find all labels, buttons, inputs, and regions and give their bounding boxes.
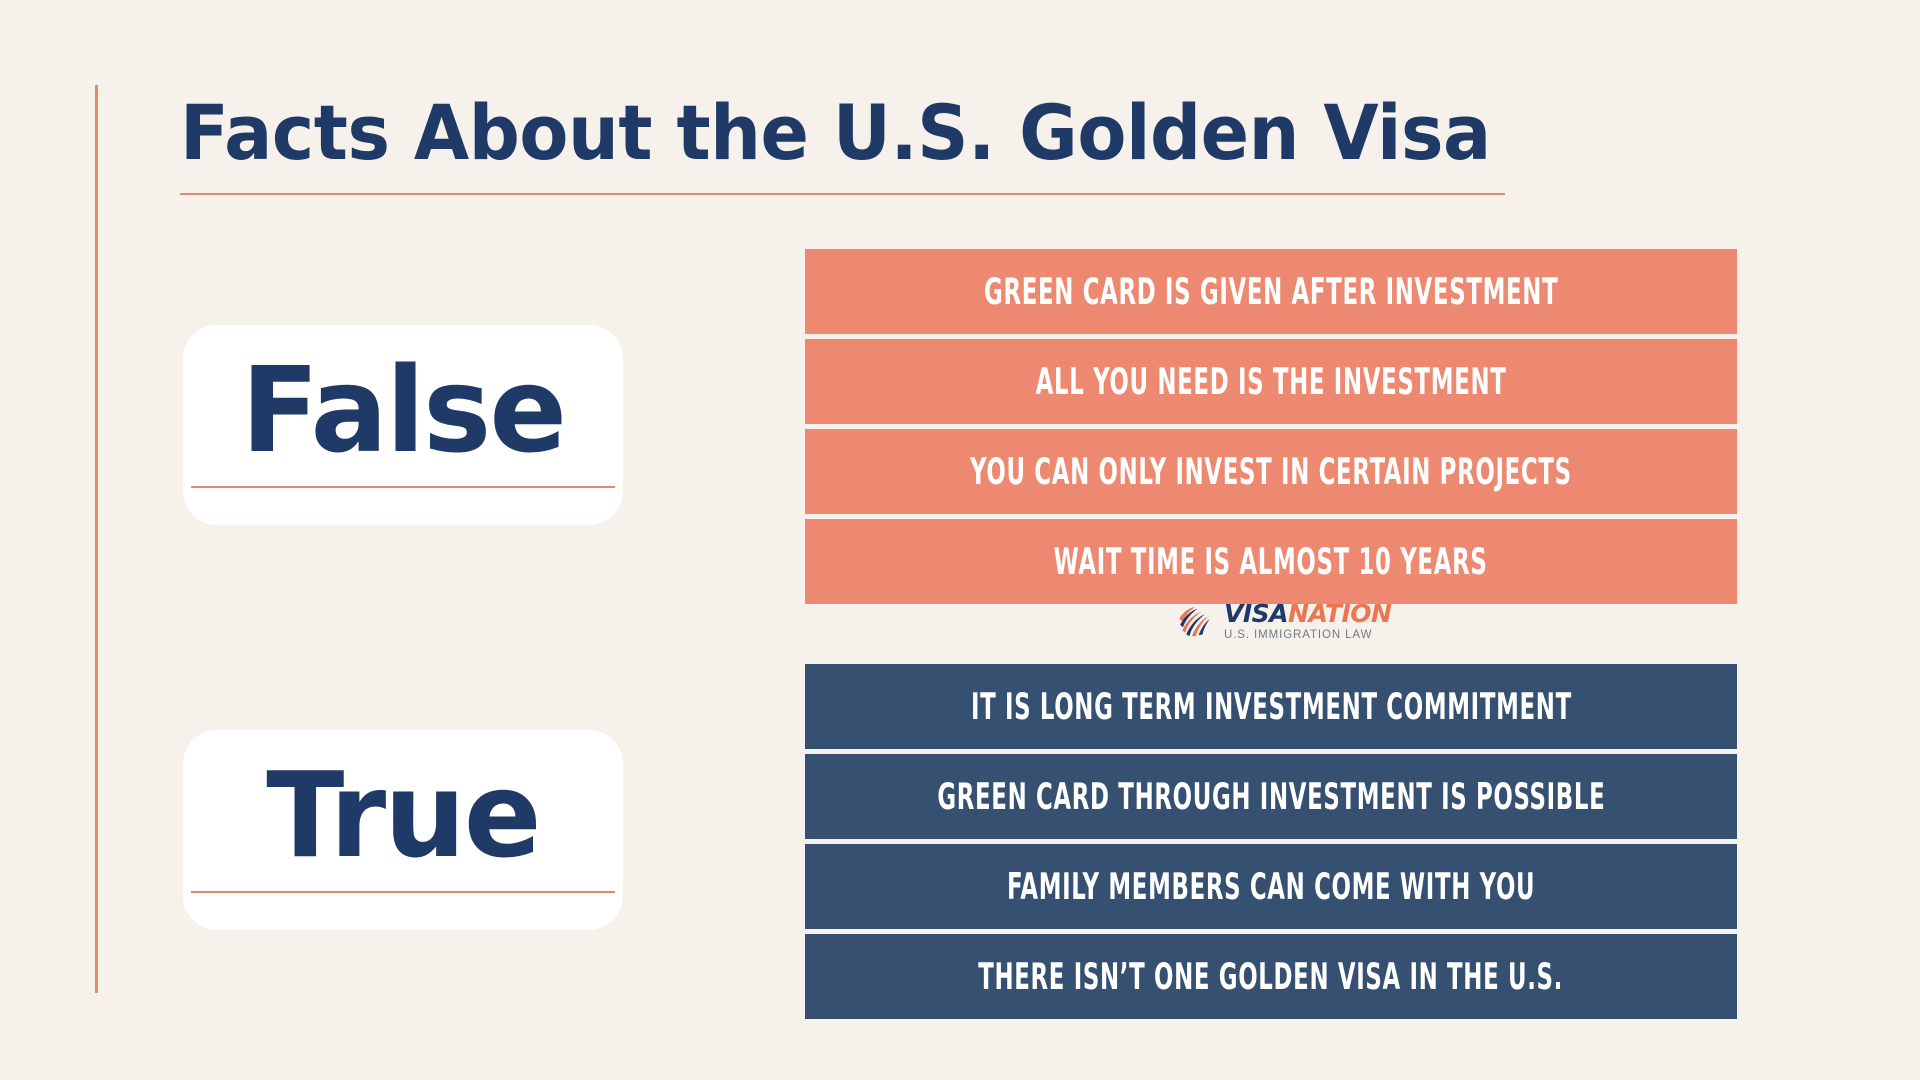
statement-bar: FAMILY MEMBERS CAN COME WITH YOU [805, 844, 1737, 929]
globe-icon [1173, 600, 1215, 642]
statement-text: WAIT TIME IS ALMOST 10 YEARS [1054, 540, 1488, 582]
page-title: Facts About the U.S. Golden Visa [180, 95, 1496, 171]
statement-bar: WAIT TIME IS ALMOST 10 YEARS [805, 519, 1737, 604]
verdict-card-false: False [183, 325, 623, 525]
statement-text: YOU CAN ONLY INVEST IN CERTAIN PROJECTS [970, 450, 1572, 492]
verdict-label-true: True [266, 756, 539, 874]
statement-bar: IT IS LONG TERM INVESTMENT COMMITMENT [805, 664, 1737, 749]
logo-word-visa: VISA [1224, 599, 1288, 628]
statement-text: GREEN CARD IS GIVEN AFTER INVESTMENT [984, 270, 1558, 312]
statement-text: GREEN CARD THROUGH INVESTMENT IS POSSIBL… [937, 775, 1605, 817]
brand-logo: VISANATION U.S. IMMIGRATION LAW [1173, 600, 1391, 642]
verdict-underline-false [191, 486, 615, 488]
statement-text: FAMILY MEMBERS CAN COME WITH YOU [1007, 865, 1535, 907]
logo-word-nation: NATION [1288, 599, 1391, 628]
statement-bar: THERE ISN’T ONE GOLDEN VISA IN THE U.S. [805, 934, 1737, 1019]
logo-text: VISANATION U.S. IMMIGRATION LAW [1224, 601, 1391, 642]
statement-bar: YOU CAN ONLY INVEST IN CERTAIN PROJECTS [805, 429, 1737, 514]
statement-text: IT IS LONG TERM INVESTMENT COMMITMENT [971, 685, 1572, 727]
statement-stack-true: IT IS LONG TERM INVESTMENT COMMITMENT GR… [805, 664, 1737, 1019]
statement-text: THERE ISN’T ONE GOLDEN VISA IN THE U.S. [979, 955, 1564, 997]
verdict-card-true-inner: True [183, 730, 623, 930]
title-block: Facts About the U.S. Golden Visa [180, 95, 1580, 195]
statement-bar: GREEN CARD IS GIVEN AFTER INVESTMENT [805, 249, 1737, 334]
verdict-underline-true [191, 891, 615, 893]
statement-stack-false: GREEN CARD IS GIVEN AFTER INVESTMENT ALL… [805, 249, 1737, 604]
statement-bar: ALL YOU NEED IS THE INVESTMENT [805, 339, 1737, 424]
left-accent-rule [95, 85, 98, 993]
verdict-label-false: False [241, 351, 565, 469]
title-underline [180, 193, 1505, 195]
statement-bar: GREEN CARD THROUGH INVESTMENT IS POSSIBL… [805, 754, 1737, 839]
logo-tagline: U.S. IMMIGRATION LAW [1224, 630, 1391, 642]
verdict-card-true: True [183, 730, 623, 930]
verdict-card-false-inner: False [183, 325, 623, 525]
logo-wordmark: VISANATION [1224, 601, 1391, 626]
statement-text: ALL YOU NEED IS THE INVESTMENT [1036, 360, 1507, 402]
